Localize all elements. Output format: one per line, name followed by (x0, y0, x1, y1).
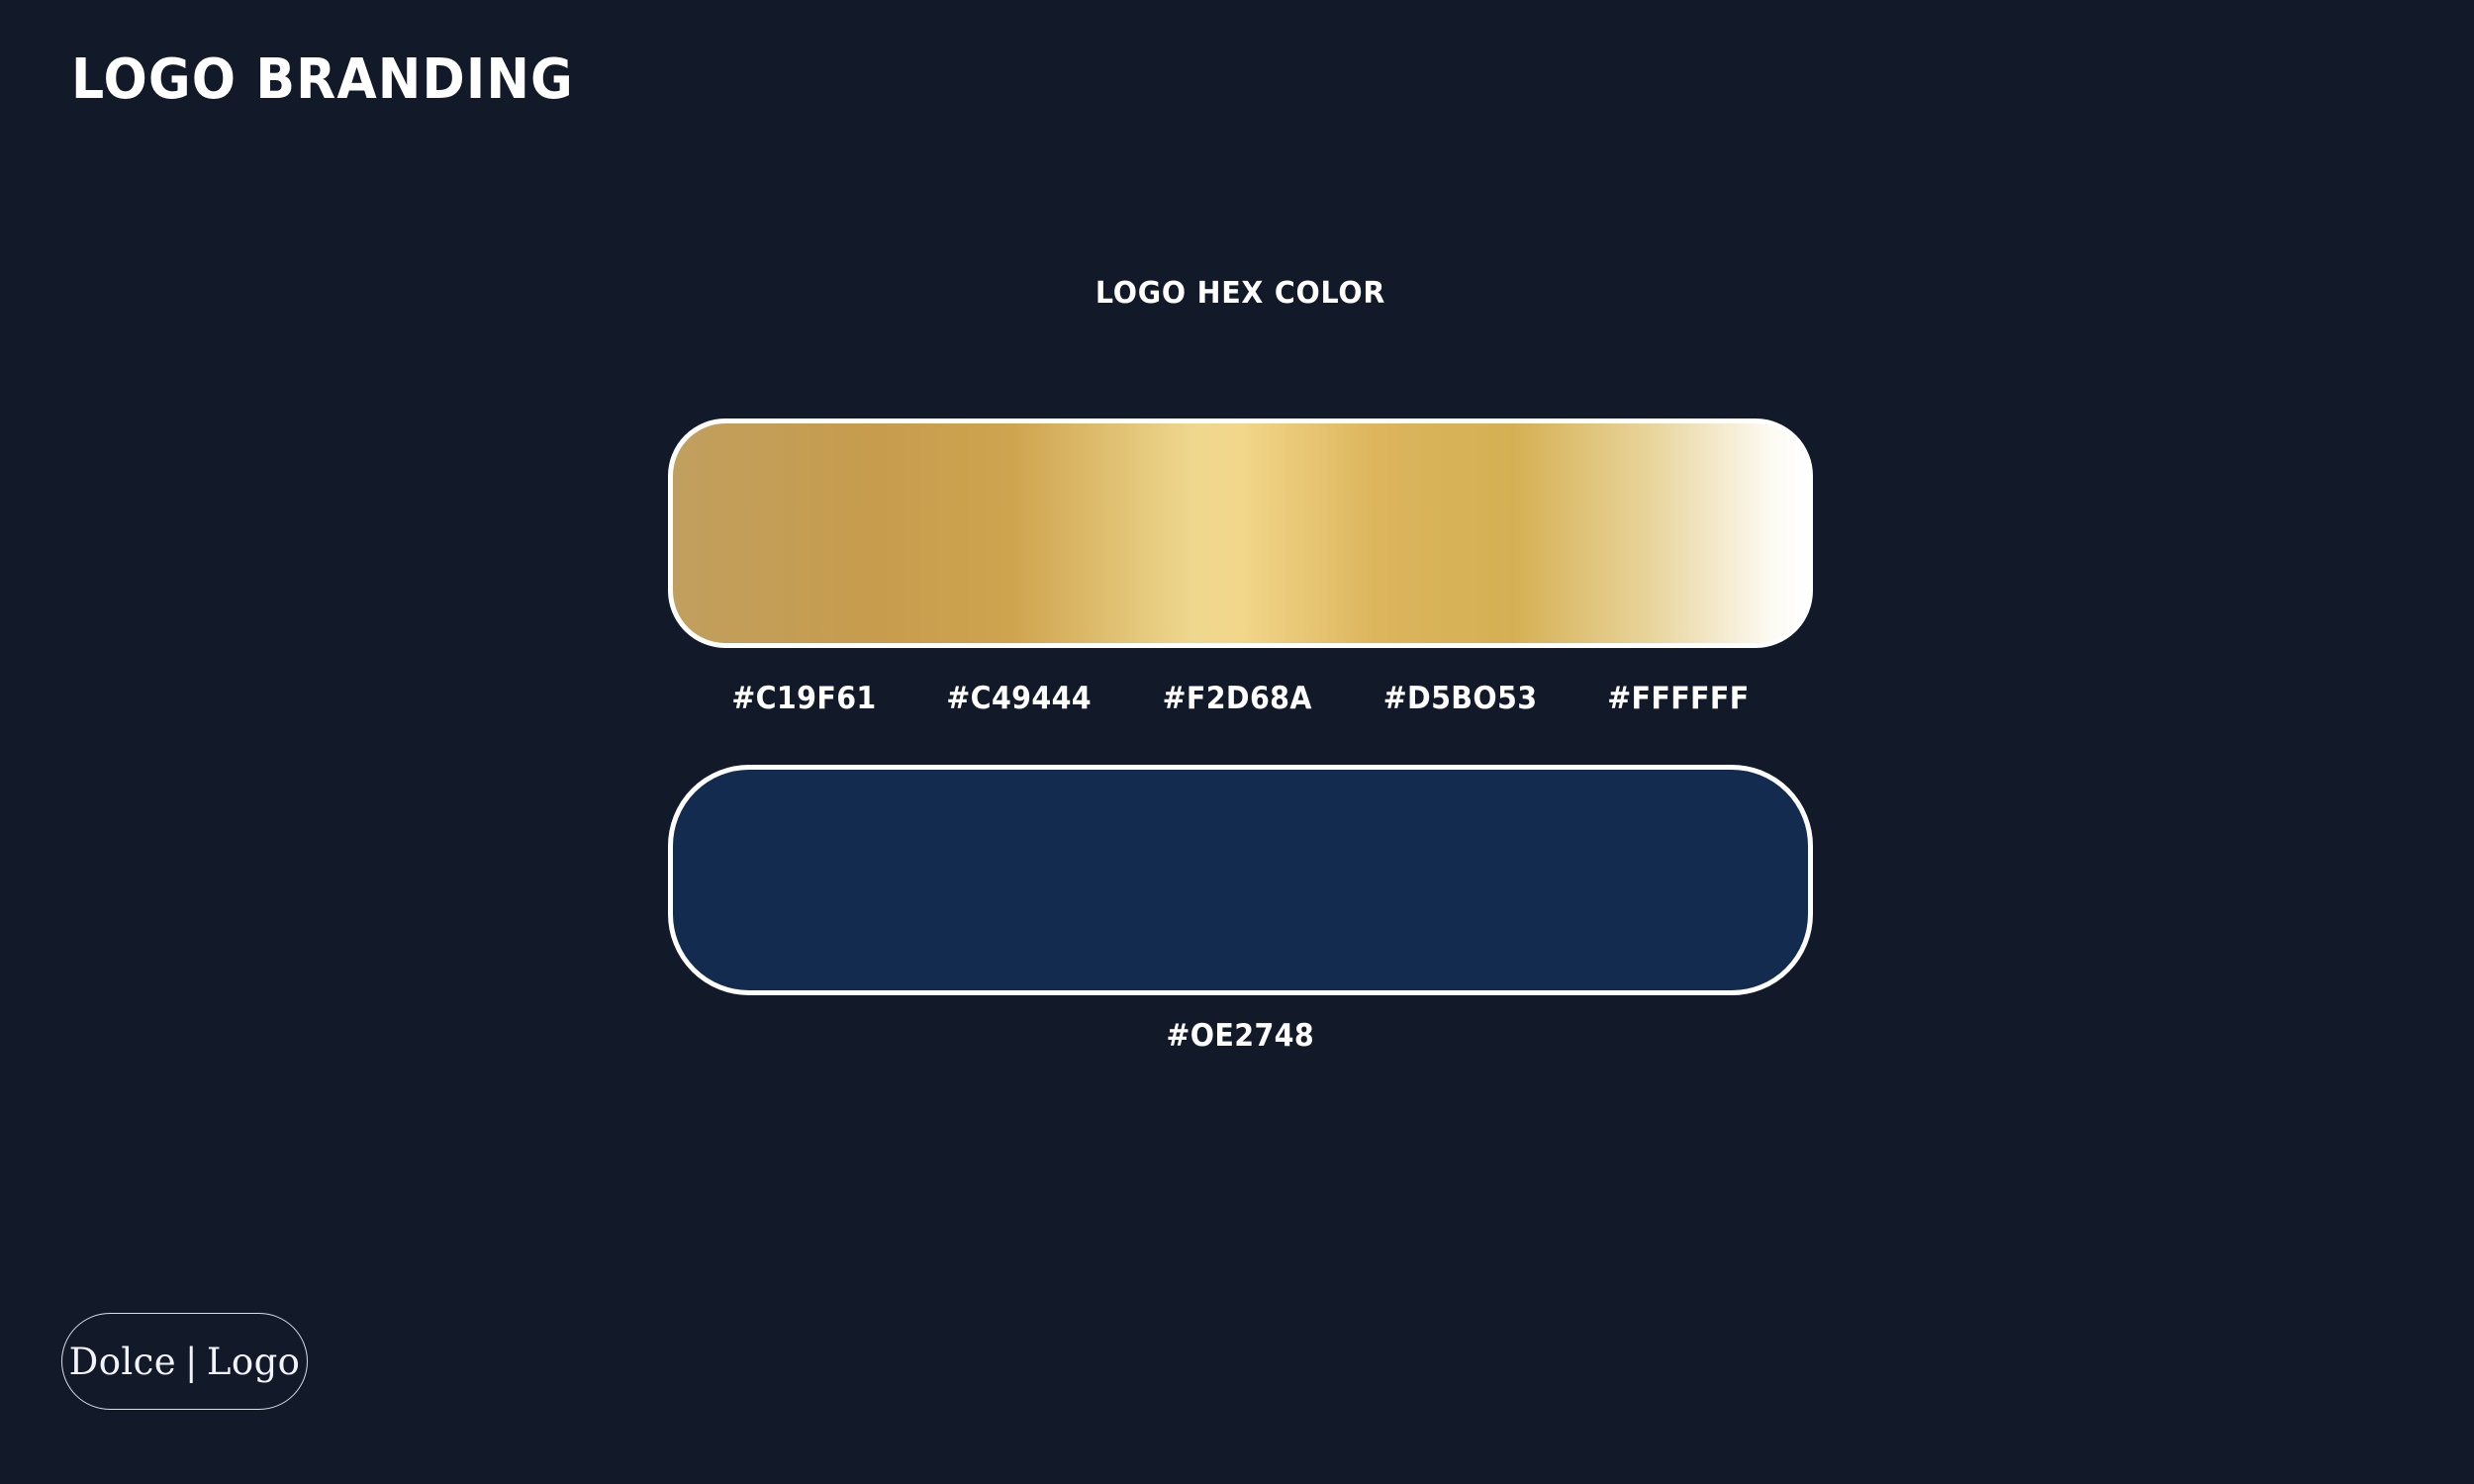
hex-label: #C49444 (947, 681, 1093, 716)
footer-label: Logo (207, 1341, 300, 1383)
navy-hex-label-row: #OE2748 (668, 1018, 1813, 1054)
hex-label: #F2D68A (1163, 681, 1312, 716)
footer-separator: | (176, 1341, 207, 1383)
gold-hex-label-row: #C19F61 #C49444 #F2D68A #D5BO53 #FFFFFF (668, 681, 1813, 716)
hex-label: #C19F61 (731, 681, 876, 716)
hex-label: #FFFFFF (1607, 681, 1749, 716)
navy-solid-swatch[interactable] (668, 765, 1813, 995)
footer-brand-name: Dolce (69, 1341, 176, 1383)
palette-section: LOGO HEX COLOR (668, 277, 1813, 310)
hex-label: #D5BO53 (1382, 681, 1537, 716)
section-heading-logo-hex-color: LOGO HEX COLOR (697, 277, 1784, 310)
hex-label: #OE2748 (1167, 1018, 1315, 1054)
footer-brand-pill[interactable]: Dolce | Logo (61, 1313, 308, 1410)
gold-gradient-swatch[interactable] (668, 418, 1813, 648)
page-title: LOGO BRANDING (71, 52, 574, 108)
